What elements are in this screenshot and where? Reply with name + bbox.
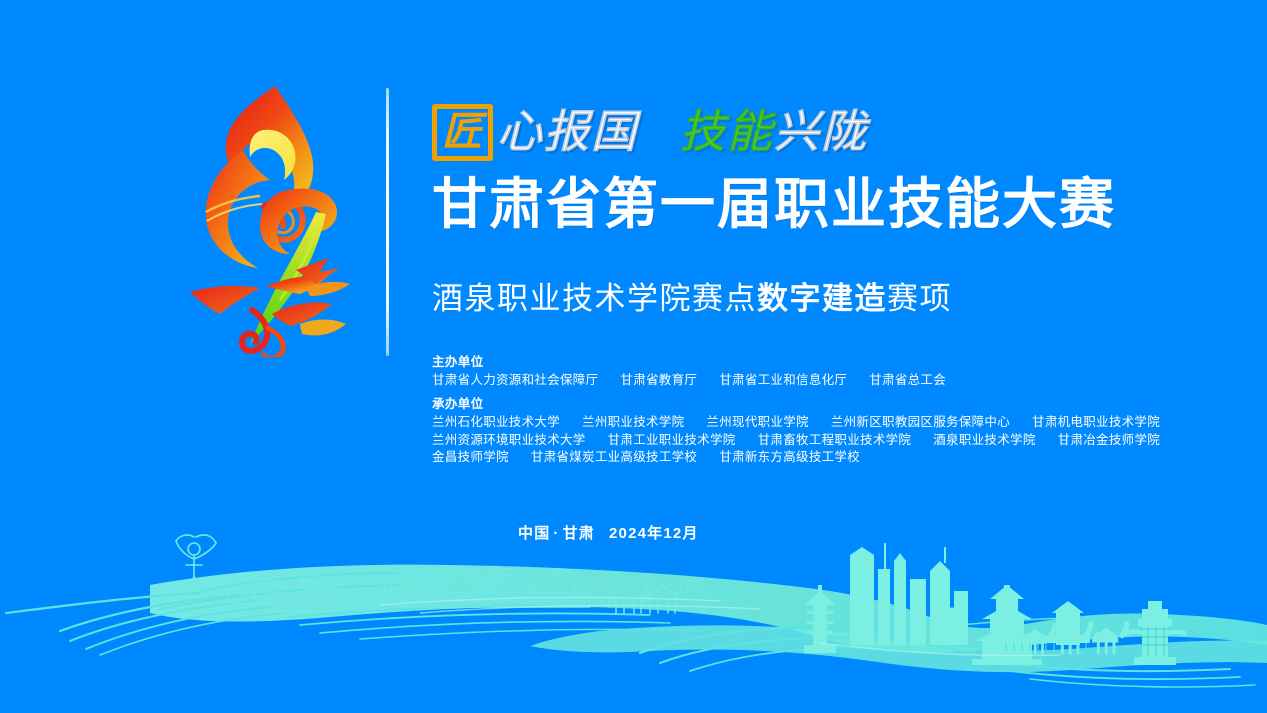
co-host-unit: 甘肃畜牧工程职业技术学院 bbox=[758, 433, 912, 447]
footer-date: 2024年12月 bbox=[609, 525, 699, 542]
co-host-unit: 兰州新区职教园区服务保障中心 bbox=[831, 415, 1010, 429]
right-pagoda-detail bbox=[1142, 627, 1168, 657]
pagoda-icon bbox=[804, 585, 836, 653]
footer-separator: · bbox=[553, 525, 559, 542]
host-unit: 甘肃省教育厅 bbox=[620, 373, 697, 387]
poster-content: 匠心报国技能兴陇 甘肃省第一届职业技能大赛 酒泉职业技术学院赛点数字建造赛项 主… bbox=[432, 100, 1192, 467]
co-host-unit: 甘肃新东方高级技工学校 bbox=[719, 450, 860, 464]
camel-caravan-group bbox=[1022, 621, 1129, 654]
traditional-building-icon bbox=[972, 585, 1042, 665]
apsara-figure-icon bbox=[176, 535, 216, 601]
tree-icon bbox=[255, 579, 282, 604]
co-host-row: 兰州石化职业技术大学兰州职业技术学院兰州现代职业学院兰州新区职教园区服务保障中心… bbox=[432, 414, 1192, 432]
gallery-wall bbox=[1000, 635, 1090, 643]
tree-icon bbox=[227, 579, 254, 604]
camel-icon bbox=[1056, 621, 1093, 654]
co-host-unit: 甘肃机电职业技术学院 bbox=[1032, 415, 1160, 429]
host-unit: 甘肃省总工会 bbox=[869, 373, 946, 387]
camel-icon bbox=[1022, 623, 1057, 654]
subtitle-emphasis: 数字建造 bbox=[757, 281, 887, 316]
footer-country: 中国 bbox=[518, 525, 550, 542]
venue-event-subtitle: 酒泉职业技术学院赛点数字建造赛项 bbox=[432, 280, 1192, 317]
co-host-unit: 兰州职业技术学院 bbox=[582, 415, 684, 429]
silk-road-landscape-illustration bbox=[0, 513, 1267, 713]
camel-icon bbox=[609, 578, 654, 613]
camel-icon bbox=[1092, 621, 1129, 654]
co-host-unit: 金昌技师学院 bbox=[432, 450, 509, 464]
co-host-unit: 酒泉职业技术学院 bbox=[933, 433, 1035, 447]
page-title: 甘肃省第一届职业技能大赛 bbox=[432, 174, 1192, 236]
camel-icon bbox=[643, 578, 688, 613]
poster-canvas: 匠心报国技能兴陇 甘肃省第一届职业技能大赛 酒泉职业技术学院赛点数字建造赛项 主… bbox=[0, 0, 1267, 713]
hall-building-icon bbox=[938, 601, 1084, 645]
co-host-unit: 兰州石化职业技术大学 bbox=[432, 415, 560, 429]
city-skyline-group bbox=[804, 543, 1090, 665]
co-host-unit: 甘肃冶金技师学院 bbox=[1058, 433, 1160, 447]
co-host-row: 金昌技师学院甘肃省煤炭工业高级技工学校甘肃新东方高级技工学校 bbox=[432, 449, 1192, 467]
host-row: 甘肃省人力资源和社会保障厅甘肃省教育厅甘肃省工业和信息化厅甘肃省总工会 bbox=[432, 372, 1192, 390]
subtitle-prefix: 酒泉职业技术学院赛点 bbox=[432, 281, 757, 316]
co-host-unit: 兰州资源环境职业技术大学 bbox=[432, 433, 586, 447]
slogan-line: 匠心报国技能兴陇 bbox=[432, 100, 1192, 162]
right-pagoda-icon bbox=[1124, 601, 1186, 665]
slogan-badge-char: 匠 bbox=[432, 104, 493, 161]
slogan-segment-white-2: 兴陇 bbox=[774, 109, 868, 154]
slogan-segment-white-1: 心报国 bbox=[497, 109, 638, 154]
host-unit: 甘肃省人力资源和社会保障厅 bbox=[432, 373, 598, 387]
subtitle-suffix: 赛项 bbox=[887, 281, 952, 316]
host-unit: 甘肃省工业和信息化厅 bbox=[719, 373, 847, 387]
co-host-row: 兰州资源环境职业技术大学甘肃工业职业技术学院甘肃畜牧工程职业技术学院酒泉职业技术… bbox=[432, 432, 1192, 450]
gallery-pillars bbox=[1006, 643, 1086, 651]
reclining-buddha-icon bbox=[296, 573, 382, 603]
mogao-grottoes-icon bbox=[380, 569, 590, 607]
co-host-unit: 甘肃工业职业技术学院 bbox=[608, 433, 736, 447]
slogan-segment-green: 技能 bbox=[680, 109, 774, 154]
skyscraper-icon bbox=[850, 543, 968, 645]
host-label: 主办单位 bbox=[432, 353, 1192, 371]
footer-location-date: 中国·甘肃2024年12月 bbox=[518, 522, 699, 543]
co-host-unit: 兰州现代职业学院 bbox=[706, 415, 808, 429]
co-host-label: 承办单位 bbox=[432, 395, 1192, 413]
footer-province: 甘肃 bbox=[563, 525, 595, 542]
co-host-unit: 甘肃省煤炭工业高级技工学校 bbox=[531, 450, 697, 464]
credits-block: 主办单位 甘肃省人力资源和社会保障厅甘肃省教育厅甘肃省工业和信息化厅甘肃省总工会… bbox=[432, 353, 1192, 467]
vertical-divider bbox=[386, 88, 389, 356]
gansu-skills-flame-emblem bbox=[168, 72, 373, 357]
